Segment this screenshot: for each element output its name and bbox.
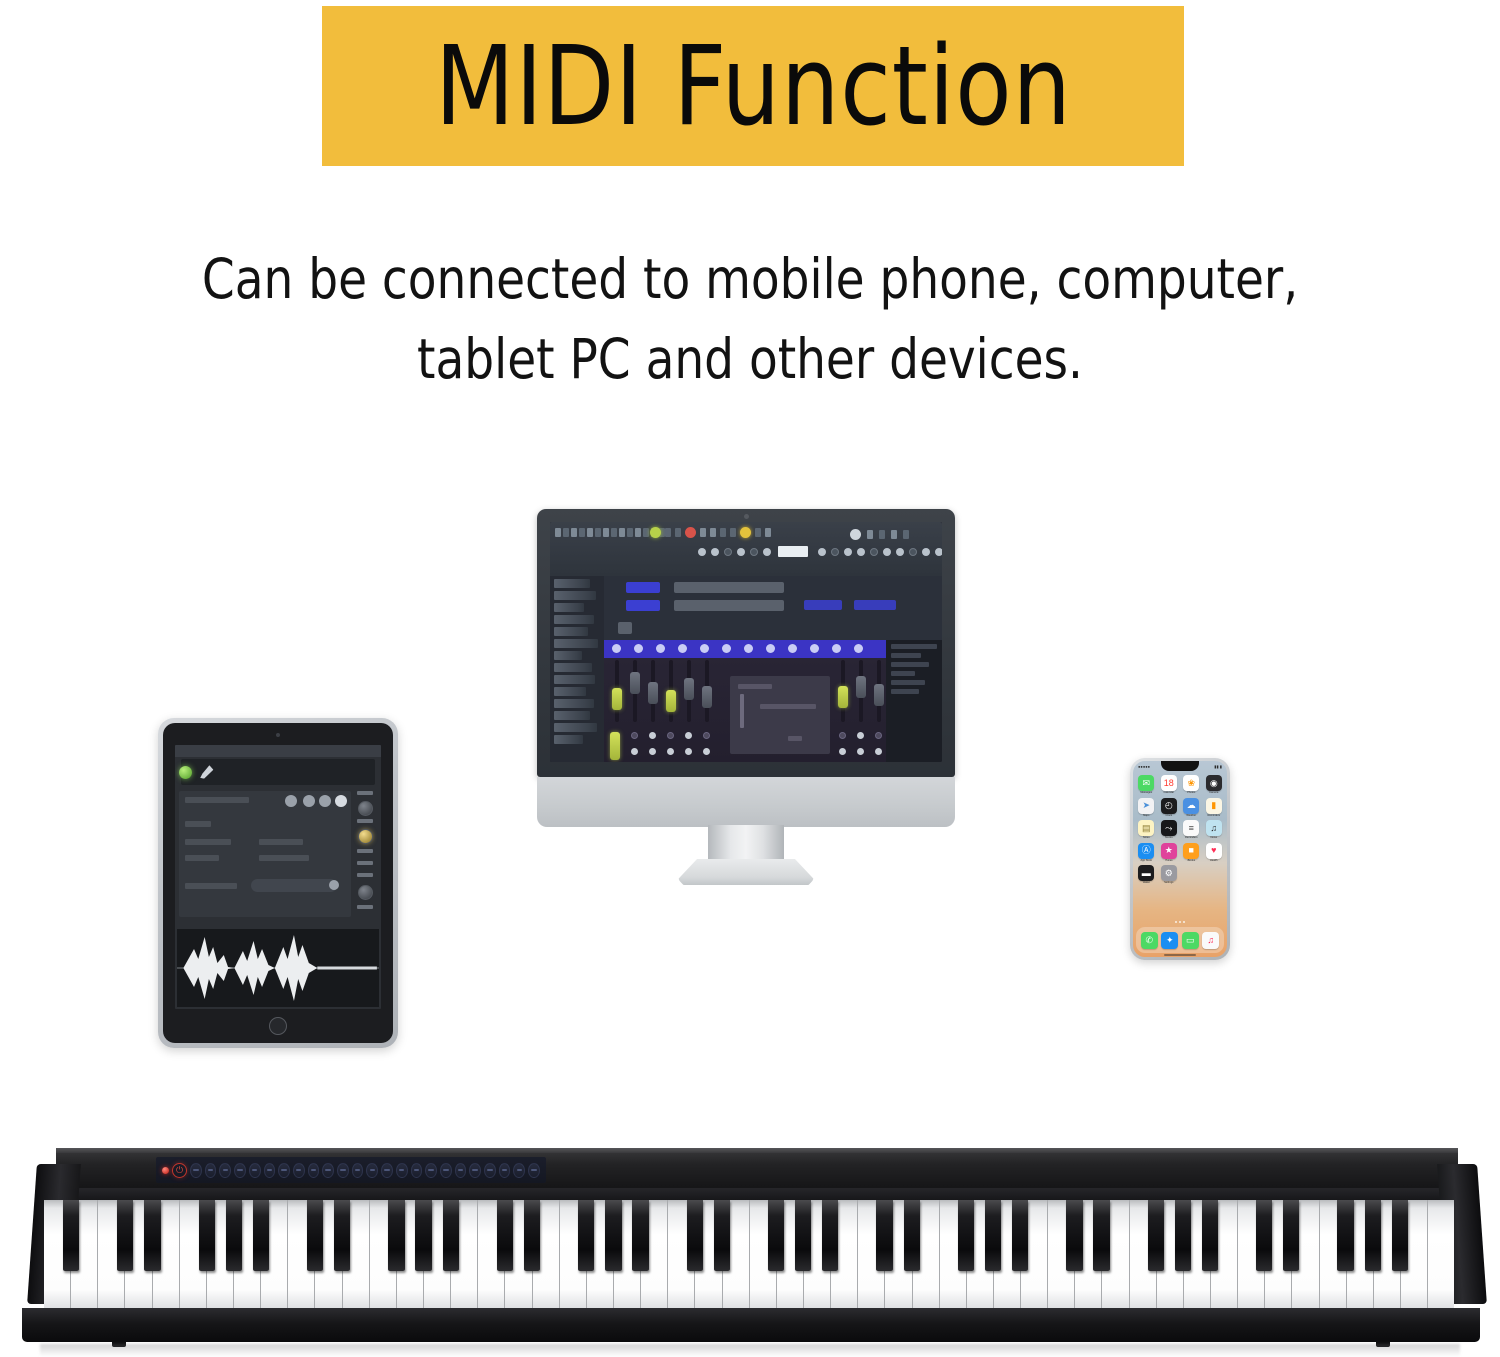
- mixer-strip[interactable]: [854, 660, 868, 760]
- mixer-plugin-window[interactable]: [730, 676, 830, 754]
- webcam-icon: [744, 514, 749, 519]
- panel-row: [891, 644, 937, 649]
- piano-control-button[interactable]: [396, 1163, 408, 1178]
- panel-row: [891, 671, 915, 676]
- panel-row: [891, 653, 921, 658]
- subtitle-line-2: tablet PC and other devices.: [38, 320, 1463, 400]
- browser-item[interactable]: [554, 651, 582, 660]
- ibooks-icon[interactable]: ■: [1183, 843, 1199, 859]
- daw-application: [550, 522, 942, 762]
- app-label: Photos: [1187, 792, 1195, 795]
- piano-control-button[interactable]: [278, 1163, 290, 1178]
- app-label: Health: [1210, 860, 1218, 863]
- piano-keybed[interactable]: [44, 1200, 1454, 1315]
- black-key[interactable]: [1256, 1200, 1272, 1271]
- black-key[interactable]: [497, 1200, 513, 1271]
- pattern-clip[interactable]: [626, 600, 660, 611]
- mixer-strip[interactable]: [664, 660, 678, 760]
- piano-control-button[interactable]: [219, 1163, 231, 1178]
- black-key[interactable]: [226, 1200, 242, 1271]
- piano-control-button[interactable]: [352, 1163, 364, 1178]
- piano-control-button[interactable]: [381, 1163, 393, 1178]
- toolbar-indicator-lamps: [650, 527, 771, 538]
- piano-control-button[interactable]: [234, 1163, 246, 1178]
- app-label: Maps: [1143, 815, 1149, 818]
- black-key[interactable]: [63, 1200, 79, 1271]
- browser-item[interactable]: [554, 723, 597, 732]
- black-key[interactable]: [1175, 1200, 1191, 1271]
- dock-icon-messages[interactable]: ▭: [1182, 932, 1199, 949]
- black-key[interactable]: [578, 1200, 594, 1271]
- app-icon-news[interactable]: ♫News: [1205, 820, 1224, 840]
- monitor-chin: [537, 777, 955, 827]
- record-indicator-icon[interactable]: [179, 766, 192, 779]
- health-icon[interactable]: ♥: [1206, 843, 1222, 859]
- browser-item[interactable]: [554, 735, 583, 744]
- browser-item[interactable]: [554, 663, 592, 672]
- camera-icon[interactable]: ◉: [1206, 775, 1222, 791]
- browser-item[interactable]: [554, 639, 598, 648]
- black-key[interactable]: [1365, 1200, 1381, 1271]
- browser-item[interactable]: [554, 579, 590, 588]
- piano-control-button[interactable]: [337, 1163, 349, 1178]
- notes-icon[interactable]: ▤: [1138, 820, 1154, 836]
- browser-item[interactable]: [554, 687, 586, 696]
- pattern-clip[interactable]: [626, 582, 660, 593]
- messages-icon[interactable]: ✉: [1138, 775, 1154, 791]
- page-dots: [1133, 921, 1227, 923]
- piano-control-button[interactable]: [322, 1163, 334, 1178]
- monitor-screen: [550, 522, 942, 762]
- app-icon-messages[interactable]: ✉Messages: [1137, 775, 1156, 795]
- app-grid: ✉Messages18Calendar❀Photos◉Camera➤Maps◴C…: [1137, 775, 1223, 885]
- black-keys[interactable]: [44, 1200, 1454, 1271]
- front-camera-icon: [276, 733, 280, 737]
- mixer-master-fader[interactable]: [608, 732, 622, 762]
- app-icon-stocks[interactable]: ⤳Stocks: [1160, 820, 1179, 840]
- mixer-strip[interactable]: [646, 660, 660, 760]
- wallet-icon[interactable]: ▬: [1138, 865, 1154, 881]
- lamp-red-icon: [685, 527, 696, 538]
- black-key[interactable]: [822, 1200, 838, 1271]
- app-dock: ✆✦▭♫: [1136, 927, 1224, 953]
- monitor-stand-foot: [678, 859, 814, 885]
- piano-control-button[interactable]: [205, 1163, 217, 1178]
- black-key[interactable]: [443, 1200, 459, 1271]
- black-key[interactable]: [144, 1200, 160, 1271]
- daw-browser-panel[interactable]: [550, 576, 604, 762]
- browser-item[interactable]: [554, 699, 594, 708]
- dock-icon-safari[interactable]: ✦: [1161, 932, 1178, 949]
- monitor-bezel: [537, 509, 955, 777]
- tablet-screen: [175, 745, 381, 1009]
- black-key[interactable]: [415, 1200, 431, 1271]
- mixer-strip[interactable]: [628, 660, 642, 760]
- black-key[interactable]: [1093, 1200, 1109, 1271]
- piano-control-button[interactable]: [293, 1163, 305, 1178]
- mobile-phone: ●●●●● ▮▮ ▮ ✉Messages18Calendar❀Photos◉Ca…: [1130, 758, 1230, 960]
- black-key[interactable]: [307, 1200, 323, 1271]
- portable-digital-piano: ⏻: [14, 1148, 1486, 1357]
- piano-reflection: [40, 1344, 1460, 1357]
- black-key[interactable]: [388, 1200, 404, 1271]
- black-key[interactable]: [199, 1200, 215, 1271]
- settings-icon[interactable]: ⚙: [1161, 865, 1177, 881]
- daw-playlist-panel[interactable]: [604, 576, 942, 640]
- app-icon-settings[interactable]: ⚙Settings: [1160, 865, 1179, 885]
- app-icon-weather[interactable]: ☁Weather: [1182, 798, 1201, 818]
- audio-waveform: [177, 929, 379, 1007]
- waveform-graphic: [177, 929, 379, 1007]
- gain-knob[interactable]: [358, 829, 373, 844]
- status-bar-right: ▮▮ ▮: [1214, 764, 1222, 769]
- toolbar-chip-group-left: [555, 528, 665, 537]
- app-icon-calendar[interactable]: 18Calendar: [1160, 775, 1179, 795]
- app-label: News: [1211, 837, 1218, 840]
- piano-control-panel[interactable]: ⏻: [156, 1157, 546, 1183]
- app-icon-reminders[interactable]: ▮Reminders: [1205, 798, 1224, 818]
- mixer-strip[interactable]: [682, 660, 696, 760]
- app-icon-notes[interactable]: ▤Notes: [1137, 820, 1156, 840]
- app-store-icon[interactable]: Ⓐ: [1138, 843, 1154, 859]
- black-key[interactable]: [714, 1200, 730, 1271]
- news-icon[interactable]: ♫: [1206, 820, 1222, 836]
- black-key[interactable]: [1012, 1200, 1028, 1271]
- app-label: Notes: [1143, 837, 1150, 840]
- pattern-clip[interactable]: [674, 600, 784, 611]
- piano-control-button[interactable]: [469, 1163, 481, 1178]
- app-label: Wallet: [1143, 882, 1150, 885]
- lamp-green-icon: [650, 527, 661, 538]
- black-key[interactable]: [876, 1200, 892, 1271]
- black-key[interactable]: [1202, 1200, 1218, 1271]
- mixer-strip[interactable]: [700, 660, 714, 760]
- itunes-icon[interactable]: ★: [1161, 843, 1177, 859]
- tablet-frame: [158, 718, 398, 1048]
- black-key[interactable]: [795, 1200, 811, 1271]
- app-icon-health[interactable]: ♥Health: [1205, 843, 1224, 863]
- black-key[interactable]: [1283, 1200, 1299, 1271]
- black-key[interactable]: [1066, 1200, 1082, 1271]
- piano-control-button[interactable]: [411, 1163, 423, 1178]
- reminders-icon[interactable]: ≡: [1183, 820, 1199, 836]
- toolbar-chip-group-right: [850, 529, 909, 540]
- power-led-icon: [162, 1167, 169, 1174]
- power-button[interactable]: ⏻: [172, 1163, 187, 1178]
- piano-control-button[interactable]: [308, 1163, 320, 1178]
- app-label: Weather: [1186, 815, 1196, 818]
- maps-icon[interactable]: ➤: [1138, 798, 1154, 814]
- piano-control-button[interactable]: [425, 1163, 437, 1178]
- piano-control-button[interactable]: [249, 1163, 261, 1178]
- black-key[interactable]: [605, 1200, 621, 1271]
- piano-control-button[interactable]: [264, 1163, 276, 1178]
- mixer-strip[interactable]: [872, 660, 886, 760]
- daw-right-panel[interactable]: [886, 640, 942, 762]
- black-key[interactable]: [687, 1200, 703, 1271]
- subtitle-text: Can be connected to mobile phone, comput…: [0, 240, 1500, 400]
- black-key[interactable]: [253, 1200, 269, 1271]
- black-key[interactable]: [524, 1200, 540, 1271]
- app-icon-clock[interactable]: ◴Clock: [1160, 798, 1179, 818]
- desktop-computer: [537, 509, 955, 891]
- pattern-clip[interactable]: [804, 600, 842, 610]
- title-banner: MIDI Function: [322, 6, 1184, 166]
- dock-icon-phone[interactable]: ✆: [1141, 932, 1158, 949]
- pattern-clip[interactable]: [618, 622, 632, 634]
- app-label: Reminders: [1185, 837, 1198, 840]
- app-titlebar: [175, 745, 381, 757]
- status-bar-left: ●●●●●: [1138, 764, 1150, 769]
- piano-control-button[interactable]: [499, 1163, 511, 1178]
- black-key[interactable]: [1392, 1200, 1408, 1271]
- black-key[interactable]: [334, 1200, 350, 1271]
- lamp-yellow-icon: [740, 527, 751, 538]
- panel-row: [891, 662, 929, 667]
- piano-control-button[interactable]: [455, 1163, 467, 1178]
- black-key[interactable]: [1337, 1200, 1353, 1271]
- browser-item[interactable]: [554, 603, 584, 612]
- pattern-clip[interactable]: [854, 600, 896, 610]
- photos-icon[interactable]: ❀: [1183, 775, 1199, 791]
- app-icon-camera[interactable]: ◉Camera: [1205, 775, 1224, 795]
- weather-icon[interactable]: ☁: [1183, 798, 1199, 814]
- black-key[interactable]: [632, 1200, 648, 1271]
- app-label: Reminders: [1207, 815, 1220, 818]
- black-key[interactable]: [985, 1200, 1001, 1271]
- app-label: iTunes: [1165, 860, 1173, 863]
- mixer-strip[interactable]: [836, 660, 850, 760]
- toolbar-knob-row-2: [818, 548, 942, 556]
- home-button-icon[interactable]: [269, 1017, 287, 1035]
- app-icon-photos[interactable]: ❀Photos: [1182, 775, 1201, 795]
- piano-control-button[interactable]: [366, 1163, 378, 1178]
- piano-control-button[interactable]: [484, 1163, 496, 1178]
- app-icon-maps[interactable]: ➤Maps: [1137, 798, 1156, 818]
- app-main-panel: [179, 791, 351, 917]
- phone-frame: ●●●●● ▮▮ ▮ ✉Messages18Calendar❀Photos◉Ca…: [1130, 758, 1230, 960]
- app-icon-ibooks[interactable]: ■iBooks: [1182, 843, 1201, 863]
- app-label: Camera: [1209, 792, 1218, 795]
- notch: [1161, 761, 1199, 771]
- app-label: Stocks: [1165, 837, 1173, 840]
- app-icon-app-store[interactable]: ⒶApp Store: [1137, 843, 1156, 863]
- stocks-icon[interactable]: ⤳: [1161, 820, 1177, 836]
- black-key[interactable]: [117, 1200, 133, 1271]
- browser-item[interactable]: [554, 591, 596, 600]
- app-label: Settings: [1164, 882, 1173, 885]
- toolbar-knob-row-1: [698, 548, 771, 556]
- black-key[interactable]: [958, 1200, 974, 1271]
- phone-screen: ●●●●● ▮▮ ▮ ✉Messages18Calendar❀Photos◉Ca…: [1133, 761, 1227, 957]
- piano-control-button[interactable]: [528, 1163, 540, 1178]
- app-label: App Store: [1140, 860, 1152, 863]
- piano-front-panel: [22, 1308, 1480, 1342]
- piano-control-button[interactable]: [513, 1163, 525, 1178]
- app-label: iBooks: [1187, 860, 1195, 863]
- panel-row: [891, 689, 919, 694]
- app-side-controls[interactable]: [353, 791, 379, 917]
- piano-control-button[interactable]: [440, 1163, 452, 1178]
- calendar-icon[interactable]: 18: [1161, 775, 1177, 791]
- app-icon-itunes[interactable]: ★iTunes: [1160, 843, 1179, 863]
- dock-icon-music[interactable]: ♫: [1202, 932, 1219, 949]
- clock-icon[interactable]: ◴: [1161, 798, 1177, 814]
- app-label: Clock: [1166, 815, 1173, 818]
- subtitle-line-1: Can be connected to mobile phone, comput…: [38, 240, 1463, 320]
- toolbar-display: [778, 546, 808, 557]
- app-label: Calendar: [1163, 792, 1174, 795]
- home-indicator[interactable]: [1164, 954, 1196, 956]
- app-label: Messages: [1140, 792, 1152, 795]
- black-key[interactable]: [1148, 1200, 1164, 1271]
- daw-toolbar: [550, 522, 942, 576]
- black-key[interactable]: [904, 1200, 920, 1271]
- reminders-icon[interactable]: ▮: [1206, 798, 1222, 814]
- tablet-bezel: [163, 723, 393, 1043]
- pattern-clip[interactable]: [674, 582, 784, 593]
- browser-item[interactable]: [554, 675, 595, 684]
- piano-control-button[interactable]: [190, 1163, 202, 1178]
- tablet-pc: [158, 718, 398, 1048]
- app-icon-reminders[interactable]: ≡Reminders: [1182, 820, 1201, 840]
- browser-item[interactable]: [554, 615, 594, 624]
- page-title: MIDI Function: [435, 31, 1072, 141]
- app-icon-wallet[interactable]: ▬Wallet: [1137, 865, 1156, 885]
- browser-item[interactable]: [554, 711, 590, 720]
- black-key[interactable]: [768, 1200, 784, 1271]
- panel-row: [891, 680, 925, 685]
- browser-item[interactable]: [554, 627, 588, 636]
